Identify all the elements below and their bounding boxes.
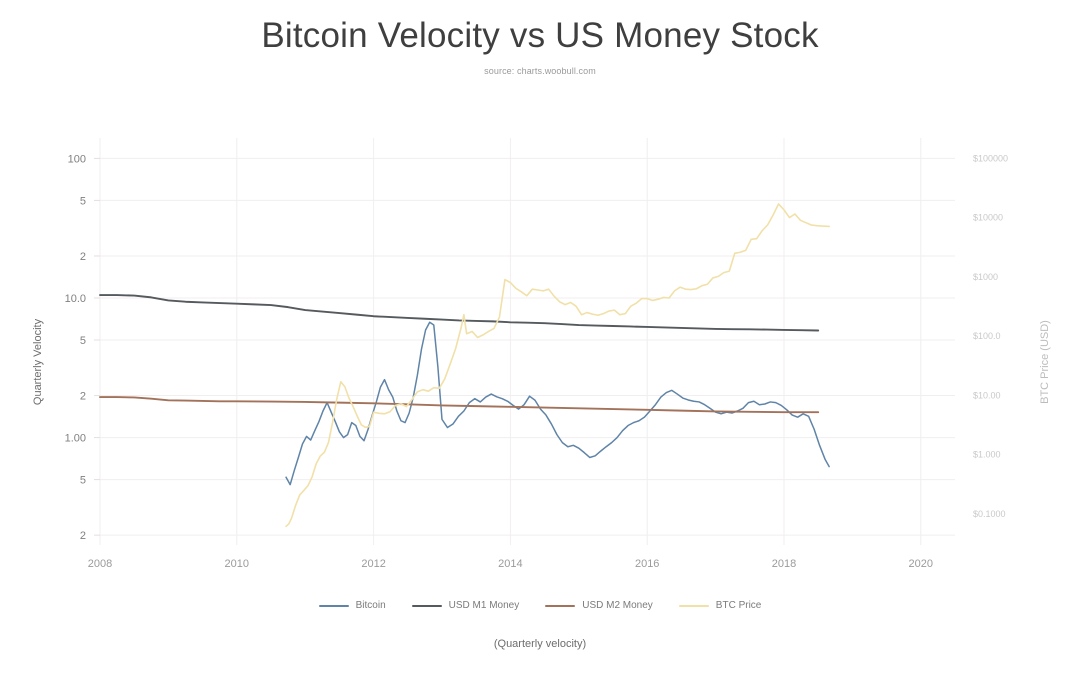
y2-axis-tick-label: $1.000 (973, 450, 1001, 460)
chart-svg: 1005210.0521.0052$100000$10000$1000$100.… (0, 0, 1080, 675)
y-axis-tick-label: 100 (68, 153, 86, 165)
legend-item[interactable]: BTC Price (679, 600, 762, 611)
y2-axis-tick-label: $100000 (973, 153, 1008, 163)
legend-swatch-icon (412, 605, 442, 607)
legend-swatch-icon (319, 605, 349, 607)
legend-item-label: Bitcoin (356, 600, 386, 611)
y2-axis-title: BTC Price (USD) (1039, 302, 1051, 422)
legend-swatch-icon (679, 605, 709, 607)
y-axis-tick-label: 2 (80, 530, 86, 542)
y-axis-tick-label: 10.0 (65, 293, 86, 305)
plot-area: 1005210.0521.0052$100000$10000$1000$100.… (0, 0, 1080, 675)
legend-item-label: BTC Price (716, 600, 762, 611)
x-axis-tick-label: 2020 (909, 558, 933, 570)
x-axis-tick-label: 2014 (498, 558, 522, 570)
x-axis-tick-label: 2008 (88, 558, 112, 570)
y-axis-tick-label: 1.00 (65, 433, 86, 445)
legend-item[interactable]: USD M1 Money (412, 600, 520, 611)
legend-item[interactable]: Bitcoin (319, 600, 386, 611)
y-axis-tick-label: 2 (80, 251, 86, 263)
y2-axis-tick-label: $1000 (973, 272, 998, 282)
chart-page: Bitcoin Velocity vs US Money Stock sourc… (0, 0, 1080, 675)
footer-caption: (Quarterly velocity) (0, 638, 1080, 650)
y2-axis-tick-label: $100.0 (973, 331, 1001, 341)
x-axis-tick-label: 2012 (361, 558, 385, 570)
legend-item-label: USD M2 Money (582, 600, 653, 611)
legend-item-label: USD M1 Money (449, 600, 520, 611)
y-axis-tick-label: 5 (80, 195, 86, 207)
series-line-usd-m2-money (100, 397, 818, 412)
x-axis-tick-label: 2018 (772, 558, 796, 570)
x-axis-tick-label: 2010 (225, 558, 249, 570)
y-axis-title: Quarterly Velocity (32, 302, 44, 422)
y-axis-tick-label: 5 (80, 475, 86, 487)
y2-axis-tick-label: $10.00 (973, 390, 1001, 400)
y2-axis-tick-label: $10000 (973, 213, 1003, 223)
y-axis-tick-label: 5 (80, 335, 86, 347)
x-axis-tick-label: 2016 (635, 558, 659, 570)
legend-item[interactable]: USD M2 Money (545, 600, 653, 611)
y2-axis-tick-label: $0.1000 (973, 509, 1006, 519)
series-line-btc-price (286, 204, 829, 526)
y-axis-tick-label: 2 (80, 391, 86, 403)
chart-legend: BitcoinUSD M1 MoneyUSD M2 MoneyBTC Price (0, 600, 1080, 611)
series-line-usd-m1-money (100, 295, 818, 330)
legend-swatch-icon (545, 605, 575, 607)
